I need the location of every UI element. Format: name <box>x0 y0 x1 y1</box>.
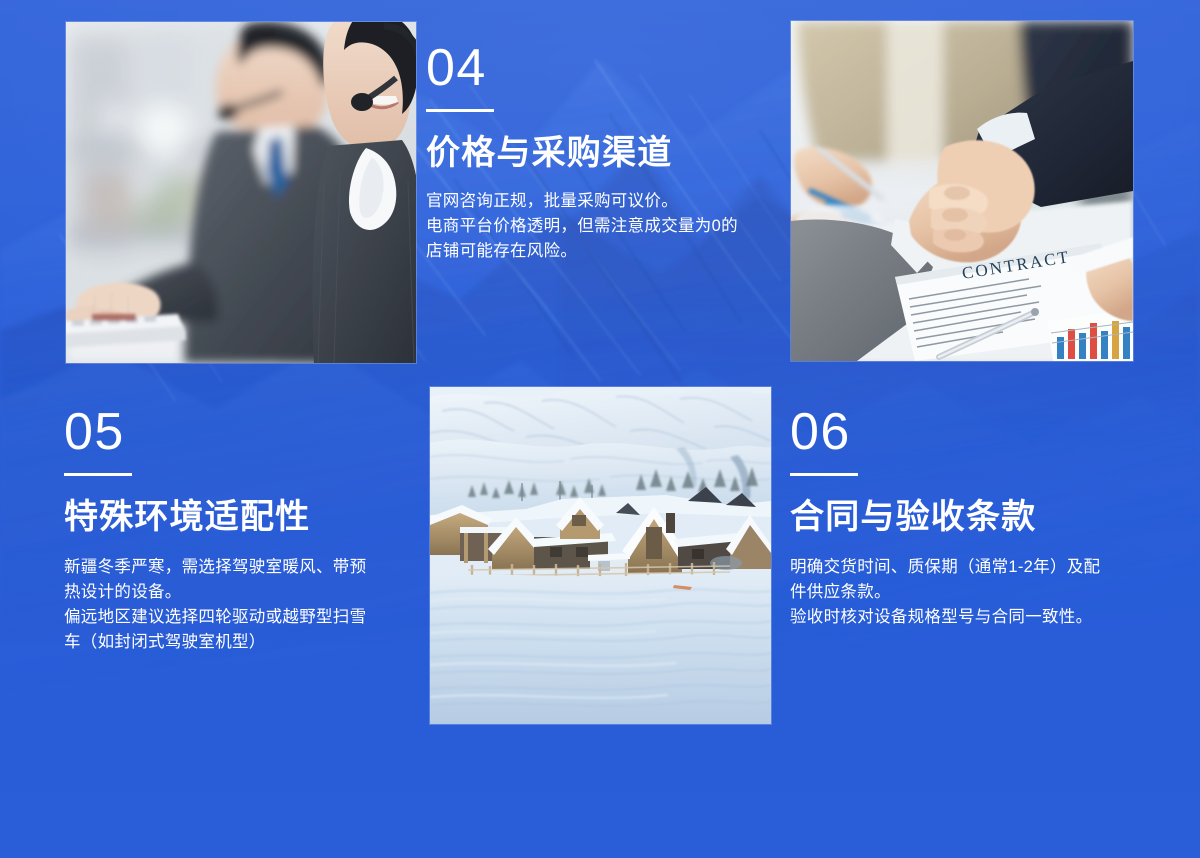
snow-village-photo-canvas <box>430 387 771 724</box>
contract-handshake-photo: CONTRACT <box>791 21 1133 361</box>
section-number-05: 05 <box>64 406 416 458</box>
section-body-04-line-1: 官网咨询正规，批量采购可议价。 <box>426 189 772 214</box>
section-rule-06 <box>790 473 858 476</box>
section-block-05: 05 特殊环境适配性 新疆冬季严寒，需选择驾驶室暖风、带预 热设计的设备。 偏远… <box>64 406 416 655</box>
section-body-06-line-2: 件供应条款。 <box>790 580 1142 605</box>
section-body-05: 新疆冬季严寒，需选择驾驶室暖风、带预 热设计的设备。 偏远地区建议选择四轮驱动或… <box>64 555 416 655</box>
section-number-04: 04 <box>426 42 772 94</box>
customer-support-photo <box>66 22 416 363</box>
section-heading-06: 合同与验收条款 <box>790 498 1142 537</box>
section-block-04: 04 价格与采购渠道 官网咨询正规，批量采购可议价。 电商平台价格透明，但需注意… <box>426 42 772 264</box>
section-body-05-line-3: 偏远地区建议选择四轮驱动或越野型扫雪 <box>64 605 416 630</box>
section-heading-05: 特殊环境适配性 <box>64 498 416 537</box>
snow-village-photo <box>430 387 771 724</box>
section-heading-04: 价格与采购渠道 <box>426 134 772 173</box>
section-body-04: 官网咨询正规，批量采购可议价。 电商平台价格透明，但需注意成交量为0的 店铺可能… <box>426 189 772 264</box>
customer-support-photo-canvas <box>66 22 416 363</box>
section-rule-04 <box>426 109 494 112</box>
content-stage: CONTRACT <box>0 0 1200 858</box>
section-rule-05 <box>64 473 132 476</box>
section-body-06: 明确交货时间、质保期（通常1-2年）及配 件供应条款。 验收时核对设备规格型号与… <box>790 555 1142 630</box>
section-body-04-line-2: 电商平台价格透明，但需注意成交量为0的 <box>426 214 772 239</box>
section-body-05-line-2: 热设计的设备。 <box>64 580 416 605</box>
section-body-06-line-1: 明确交货时间、质保期（通常1-2年）及配 <box>790 555 1142 580</box>
section-body-06-line-3: 验收时核对设备规格型号与合同一致性。 <box>790 605 1142 630</box>
contract-handshake-photo-canvas: CONTRACT <box>791 21 1133 361</box>
section-body-05-line-4: 车（如封闭式驾驶室机型） <box>64 630 416 655</box>
section-block-06: 06 合同与验收条款 明确交货时间、质保期（通常1-2年）及配 件供应条款。 验… <box>790 406 1142 630</box>
section-body-05-line-1: 新疆冬季严寒，需选择驾驶室暖风、带预 <box>64 555 416 580</box>
section-number-06: 06 <box>790 406 1142 458</box>
section-body-04-line-3: 店铺可能存在风险。 <box>426 239 772 264</box>
